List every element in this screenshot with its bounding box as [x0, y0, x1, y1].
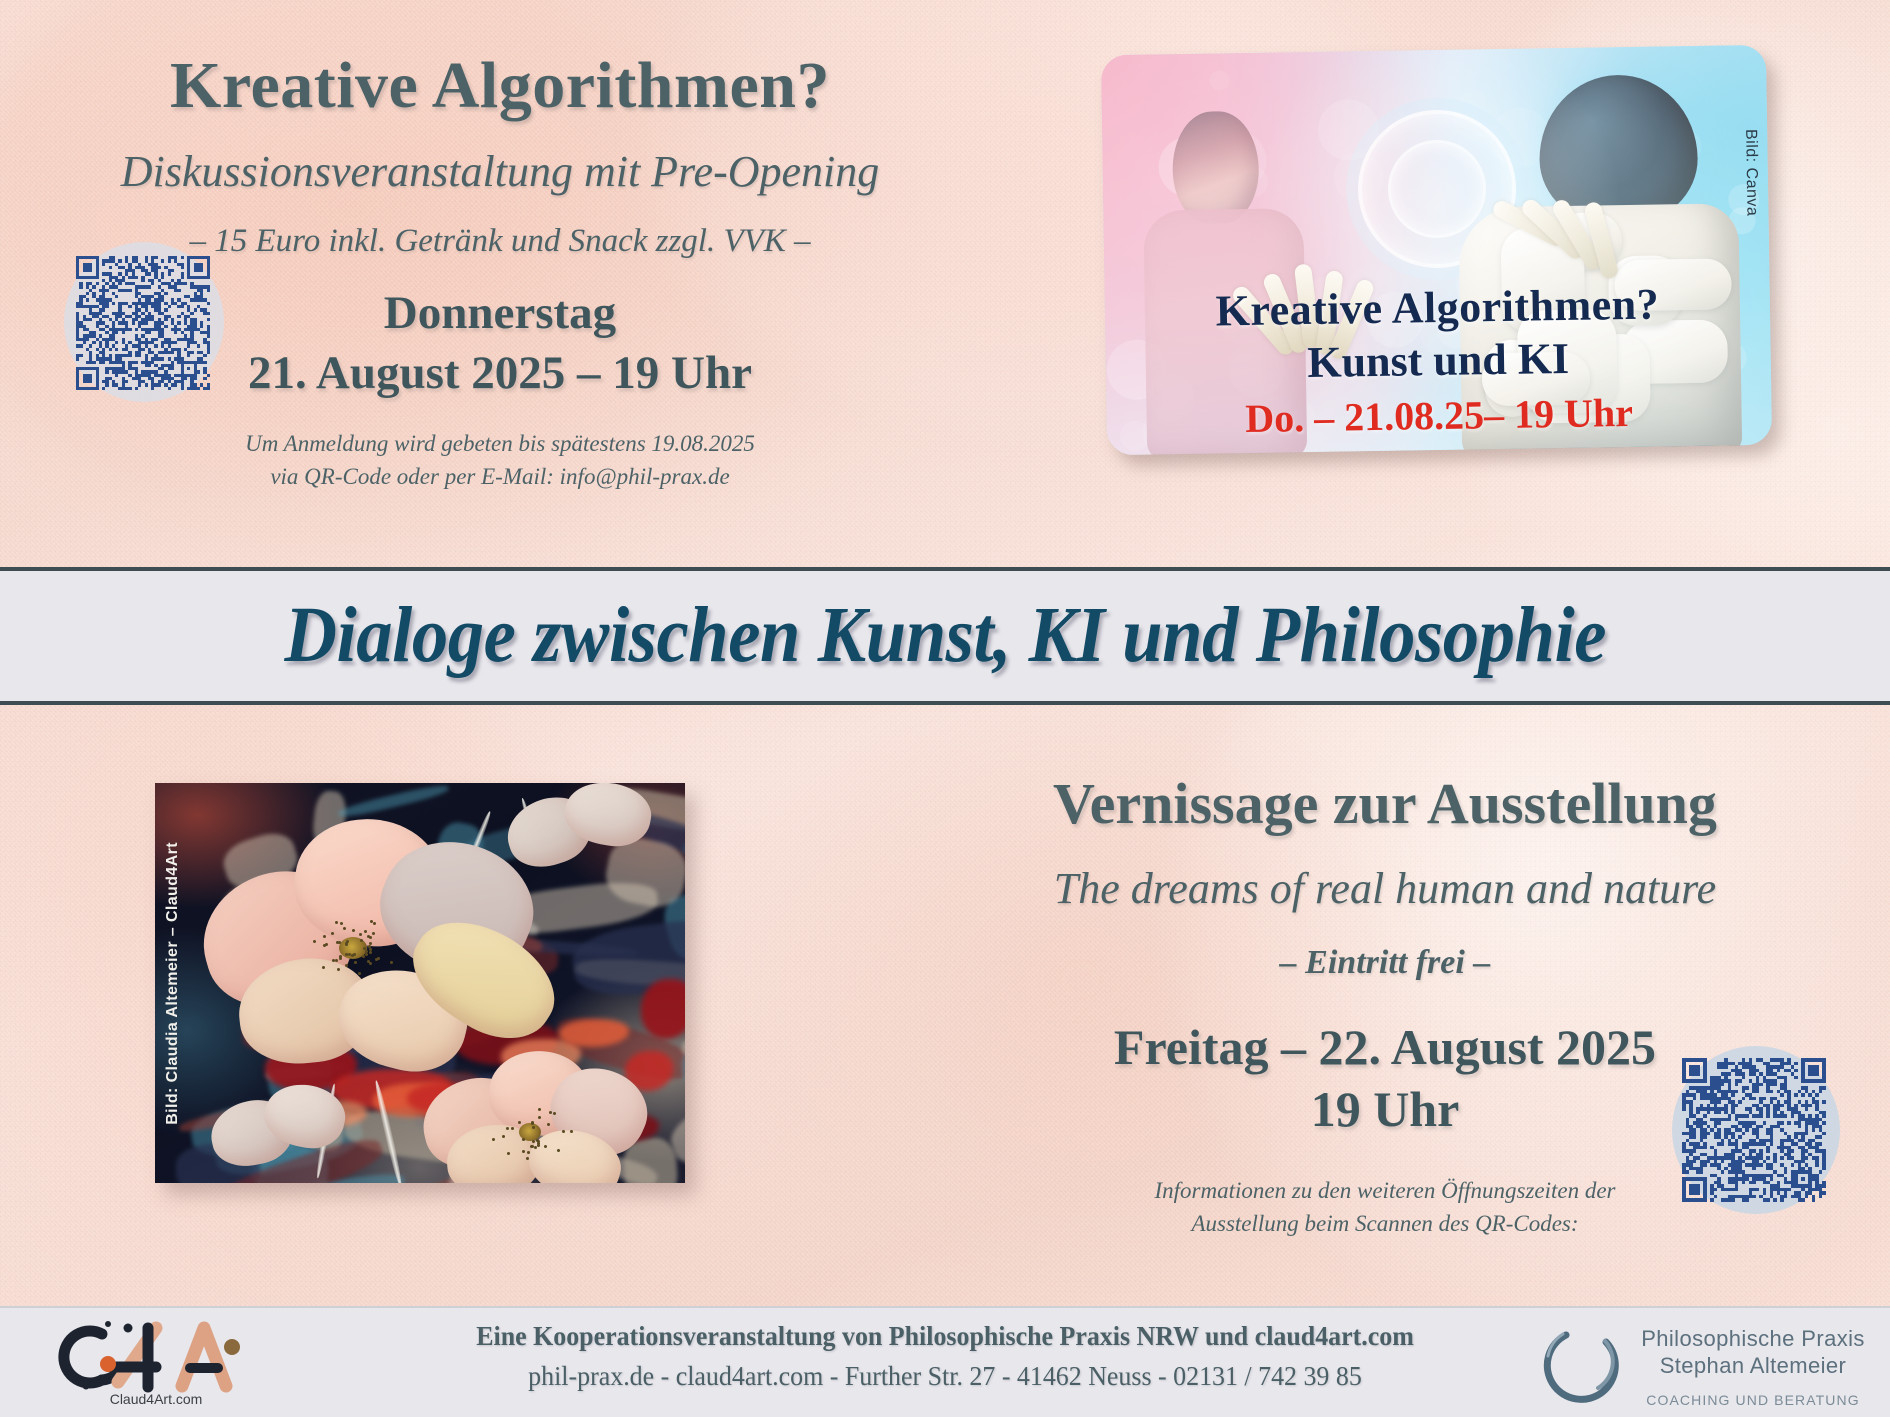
philosophische-praxis-text: Philosophische Praxis Stephan Altemeier …	[1640, 1326, 1866, 1408]
robot-promo-card: Kreative Algorithmen? Kunst und KI Do. –…	[1101, 45, 1772, 455]
claud4art-logo-caption: Claud4Art.com	[56, 1391, 256, 1407]
top-registration-note: Um Anmeldung wird gebeten bis spätestens…	[0, 428, 1000, 493]
robot-card-image-credit: Bild: Canva	[1741, 129, 1760, 217]
bottom-headline: Vernissage zur Ausstellung	[880, 770, 1890, 837]
pp-logo-line-3: COACHING UND BERATUNG	[1640, 1392, 1866, 1408]
poster-footer: Claud4Art.com Eine Kooperationsveranstal…	[0, 1306, 1890, 1417]
pp-logo-line-2: Stephan Altemeier	[1640, 1353, 1866, 1379]
claud4art-logo[interactable]: Claud4Art.com	[56, 1320, 256, 1410]
robot-card-title-1: Kreative Algorithmen?	[1105, 277, 1771, 338]
footer-contact-line: phil-prax.de - claud4art.com - Further S…	[326, 1361, 1564, 1392]
enso-circle-icon	[1536, 1322, 1628, 1407]
robot-card-text-block: Kreative Algorithmen? Kunst und KI Do. –…	[1105, 277, 1772, 444]
qr-code-matrix-bottom[interactable]	[1682, 1058, 1826, 1202]
top-registration-line-2: via QR-Code oder per E-Mail: info@phil-p…	[0, 461, 1000, 494]
pp-logo-line-1: Philosophische Praxis	[1640, 1326, 1866, 1352]
artwork-flowers	[155, 783, 685, 1183]
top-headline: Kreative Algorithmen?	[0, 48, 1000, 124]
center-banner: Dialoge zwischen Kunst, KI und Philosoph…	[0, 567, 1890, 705]
top-subtitle: Diskussionsveranstaltung mit Pre-Opening	[0, 146, 1000, 197]
artwork-image-credit: Bild: Claudia Altemeier – Claud4Art	[164, 842, 182, 1125]
event-poster: Kreative Algorithmen? Diskussionsveranst…	[0, 0, 1890, 1417]
bottom-admission: – Eintritt frei –	[880, 944, 1890, 982]
qr-code-matrix-top[interactable]	[76, 256, 210, 390]
philosophische-praxis-logo[interactable]: Philosophische Praxis Stephan Altemeier …	[1536, 1316, 1866, 1411]
footer-text-block: Eine Kooperationsveranstaltung von Philo…	[300, 1321, 1590, 1392]
robot-card-title-2: Kunst und KI	[1105, 330, 1771, 391]
c4a-logo-icon	[56, 1320, 256, 1394]
footer-cooperation-line: Eine Kooperationsveranstaltung von Philo…	[326, 1321, 1564, 1352]
artwork-image: Bild: Claudia Altemeier – Claud4Art	[155, 783, 685, 1183]
qr-code-anmeldung[interactable]	[64, 242, 224, 402]
qr-code-oeffnungszeiten[interactable]	[1672, 1046, 1840, 1214]
banner-title: Dialoge zwischen Kunst, KI und Philosoph…	[284, 591, 1606, 681]
top-registration-line-1: Um Anmeldung wird gebeten bis spätestens…	[0, 428, 1000, 461]
bottom-subtitle: The dreams of real human and nature	[880, 863, 1890, 914]
